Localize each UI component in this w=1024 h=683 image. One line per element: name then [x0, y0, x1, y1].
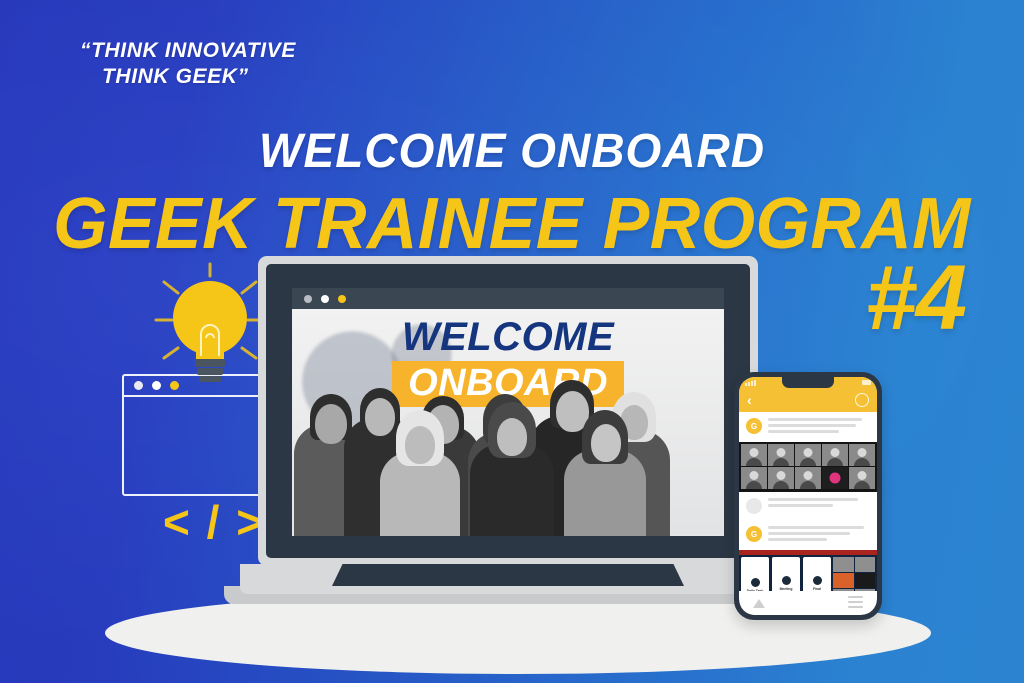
laptop-lid: WELCOME ONBOARD [258, 256, 758, 566]
lightbulb-icon [152, 262, 268, 388]
post-text-lines [768, 526, 870, 544]
video-grid-row [741, 444, 875, 466]
card-icon [782, 576, 791, 585]
avatar: G [746, 418, 762, 434]
laptop-device: WELCOME ONBOARD [258, 256, 758, 566]
post-text-lines [768, 418, 870, 436]
feed-post[interactable]: G [739, 412, 877, 442]
code-brackets-icon: < / > [163, 495, 265, 549]
participant-tile[interactable] [833, 573, 854, 588]
laptop-bezel: WELCOME ONBOARD [266, 264, 750, 558]
laptop-hinge [332, 564, 684, 586]
card-icon [813, 576, 822, 585]
participant-tile[interactable] [855, 557, 876, 572]
tagline: “THINK INNOVATIVE THINK GEEK” [80, 38, 296, 89]
video-call-grid[interactable] [739, 442, 877, 492]
video-grid-row [741, 467, 875, 489]
participant-tile[interactable] [795, 444, 821, 466]
home-icon[interactable] [753, 599, 765, 608]
phone-frame: ‹ G [734, 372, 882, 620]
headline-program: GEEK TRAINEE PROGRAM [15, 188, 1008, 260]
tagline-line-1: “THINK INNOVATIVE [80, 39, 296, 62]
laptop-screen: WELCOME ONBOARD [292, 288, 724, 536]
participant-tile[interactable] [855, 573, 876, 588]
feed-post[interactable] [739, 492, 877, 520]
participant-tile-muted[interactable] [822, 467, 848, 489]
meeting-grid-row [833, 557, 875, 572]
edition-badge: #4 [866, 252, 966, 344]
poster-canvas: “THINK INNOVATIVE THINK GEEK” WELCOME ON… [0, 0, 1024, 683]
avatar [746, 498, 762, 514]
meeting-grid-row [833, 573, 875, 588]
screen-window-dot-2-icon [321, 295, 329, 303]
participant-tile[interactable] [849, 467, 875, 489]
window-dot-1-icon [134, 381, 143, 390]
back-chevron-icon[interactable]: ‹ [747, 393, 752, 407]
participant-tile[interactable] [849, 444, 875, 466]
group-photo [292, 350, 724, 536]
headline-block: WELCOME ONBOARD GEEK TRAINEE PROGRAM [0, 128, 1024, 260]
presentation-slide: WELCOME ONBOARD [292, 309, 724, 536]
screen-window-dot-3-icon [338, 295, 346, 303]
tagline-line-2: THINK GEEK” [80, 64, 296, 90]
card-icon [751, 578, 760, 587]
participant-tile[interactable] [741, 444, 767, 466]
phone-bottom-nav[interactable] [739, 591, 877, 615]
participant-tile[interactable] [768, 467, 794, 489]
phone-notch [782, 377, 834, 388]
phone-app-header: ‹ [739, 388, 877, 412]
avatar: G [746, 526, 762, 542]
feed-post[interactable]: G [739, 520, 877, 550]
participant-tile[interactable] [768, 444, 794, 466]
phone-device: ‹ G [734, 372, 882, 620]
participant-tile[interactable] [741, 467, 767, 489]
post-text-lines [768, 498, 870, 510]
gear-icon[interactable] [855, 393, 869, 407]
screen-window-dot-1-icon [304, 295, 312, 303]
participant-tile[interactable] [795, 467, 821, 489]
hamburger-menu-icon[interactable] [848, 596, 863, 611]
headline-welcome: WELCOME ONBOARD [20, 128, 1003, 176]
phone-screen: ‹ G [739, 377, 877, 615]
participant-tile[interactable] [822, 444, 848, 466]
participant-tile[interactable] [833, 557, 854, 572]
screen-window-titlebar [292, 288, 724, 309]
signal-icon [745, 380, 756, 386]
battery-icon [862, 380, 871, 385]
